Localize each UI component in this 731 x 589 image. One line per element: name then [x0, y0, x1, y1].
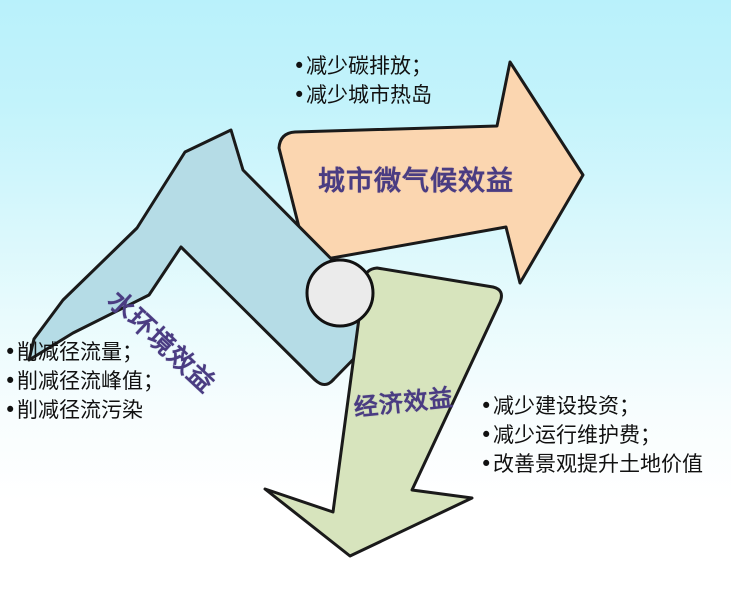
list-item: •减少建设投资； — [480, 392, 703, 421]
list-item-label: 减少建设投资； — [493, 394, 640, 418]
list-item-label: 改善景观提升土地价值 — [493, 452, 703, 476]
list-item-label: 减少运行维护费； — [493, 423, 661, 447]
arrow-title-climate: 城市微气候效益 — [318, 159, 514, 198]
bullet-icon: • — [4, 338, 17, 367]
bullet-icon: • — [293, 81, 306, 110]
list-item: •减少碳排放； — [293, 52, 432, 81]
notes-water: •削减径流量； •削减径流峰值； •削减径流污染 — [4, 338, 164, 425]
list-item: •削减径流量； — [4, 338, 164, 367]
list-item-label: 削减径流峰值； — [17, 369, 164, 393]
list-item: •减少运行维护费； — [480, 421, 703, 450]
list-item-label: 减少碳排放； — [306, 54, 432, 78]
bullet-icon: • — [4, 396, 17, 425]
list-item-label: 削减径流污染 — [17, 398, 143, 422]
list-item: •削减径流污染 — [4, 396, 164, 425]
bullet-icon: • — [4, 367, 17, 396]
diagram-canvas: 城市微气候效益 水环境效益 经济效益 •减少碳排放； •减少城市热岛 •削减径流… — [0, 0, 731, 589]
bullet-icon: • — [480, 450, 493, 479]
notes-climate: •减少碳排放； •减少城市热岛 — [293, 52, 432, 110]
bullet-icon: • — [480, 392, 493, 421]
notes-economy: •减少建设投资； •减少运行维护费； •改善景观提升土地价值 — [480, 392, 703, 479]
list-item-label: 减少城市热岛 — [306, 83, 432, 107]
list-item: •减少城市热岛 — [293, 81, 432, 110]
bullet-icon: • — [293, 52, 306, 81]
list-item: •改善景观提升土地价值 — [480, 450, 703, 479]
list-item-label: 削减径流量； — [17, 340, 143, 364]
center-hub-circle[interactable] — [307, 260, 373, 326]
bullet-icon: • — [480, 421, 493, 450]
list-item: •削减径流峰值； — [4, 367, 164, 396]
